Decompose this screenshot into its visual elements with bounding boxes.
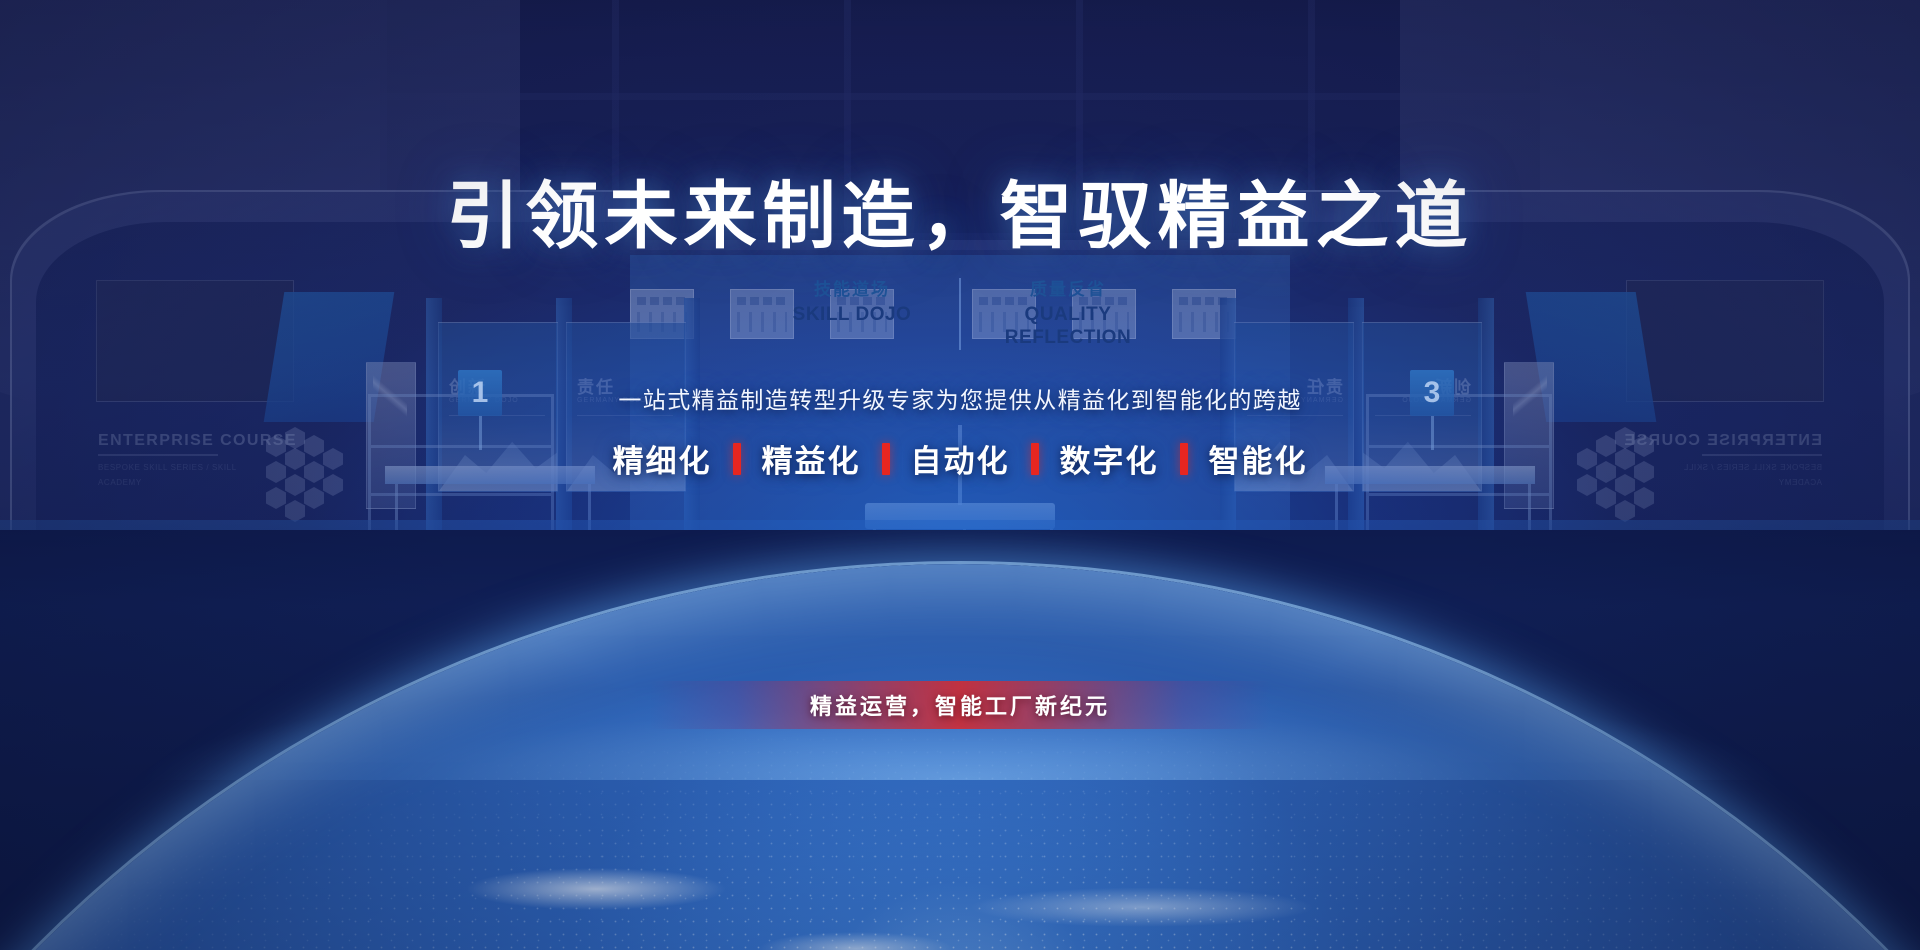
keyword-separator-icon — [1031, 443, 1039, 475]
ribbon-label: 精益运营，智能工厂新纪元 — [810, 689, 1110, 721]
space-scene — [0, 530, 1920, 950]
earth-globe — [0, 564, 1920, 950]
keyword-item: 精益化 — [741, 436, 882, 481]
overhead-signage: 技能道场 SKILL DOJO 质量反省 QUALITY REFLECTION — [0, 278, 1920, 350]
hero-banner: ENTERPRISE COURSE BESPOKE SKILL SERIES /… — [0, 0, 1920, 950]
hero-ribbon-banner: 精益运营，智能工厂新纪元 — [650, 681, 1270, 729]
keyword-item: 智能化 — [1188, 436, 1329, 481]
keyword-item: 精细化 — [592, 436, 733, 481]
keyword-separator-icon — [733, 443, 741, 475]
signage-label-cn: 质量反省 — [961, 278, 1175, 303]
keyword-separator-icon — [882, 443, 890, 475]
signage-label-cn: 技能道场 — [745, 278, 959, 303]
signage-label-en: SKILL DOJO — [745, 303, 959, 327]
signage-label-en: QUALITY REFLECTION — [961, 303, 1175, 351]
keyword-separator-icon — [1180, 443, 1188, 475]
keyword-item: 自动化 — [890, 436, 1031, 481]
signage-quality-reflection: 质量反省 QUALITY REFLECTION — [961, 278, 1175, 350]
keyword-item: 数字化 — [1039, 436, 1180, 481]
hero-title: 引领未来制造，智驭精益之道 — [0, 180, 1920, 253]
hero-subtitle: 一站式精益制造转型升级专家为您提供从精益化到智能化的跨越 — [0, 381, 1920, 415]
earth-cloud-layer — [0, 564, 1920, 950]
hero-keyword-list: 精细化 精益化 自动化 数字化 智能化 — [0, 436, 1920, 481]
signage-skill-dojo: 技能道场 SKILL DOJO — [745, 278, 961, 350]
